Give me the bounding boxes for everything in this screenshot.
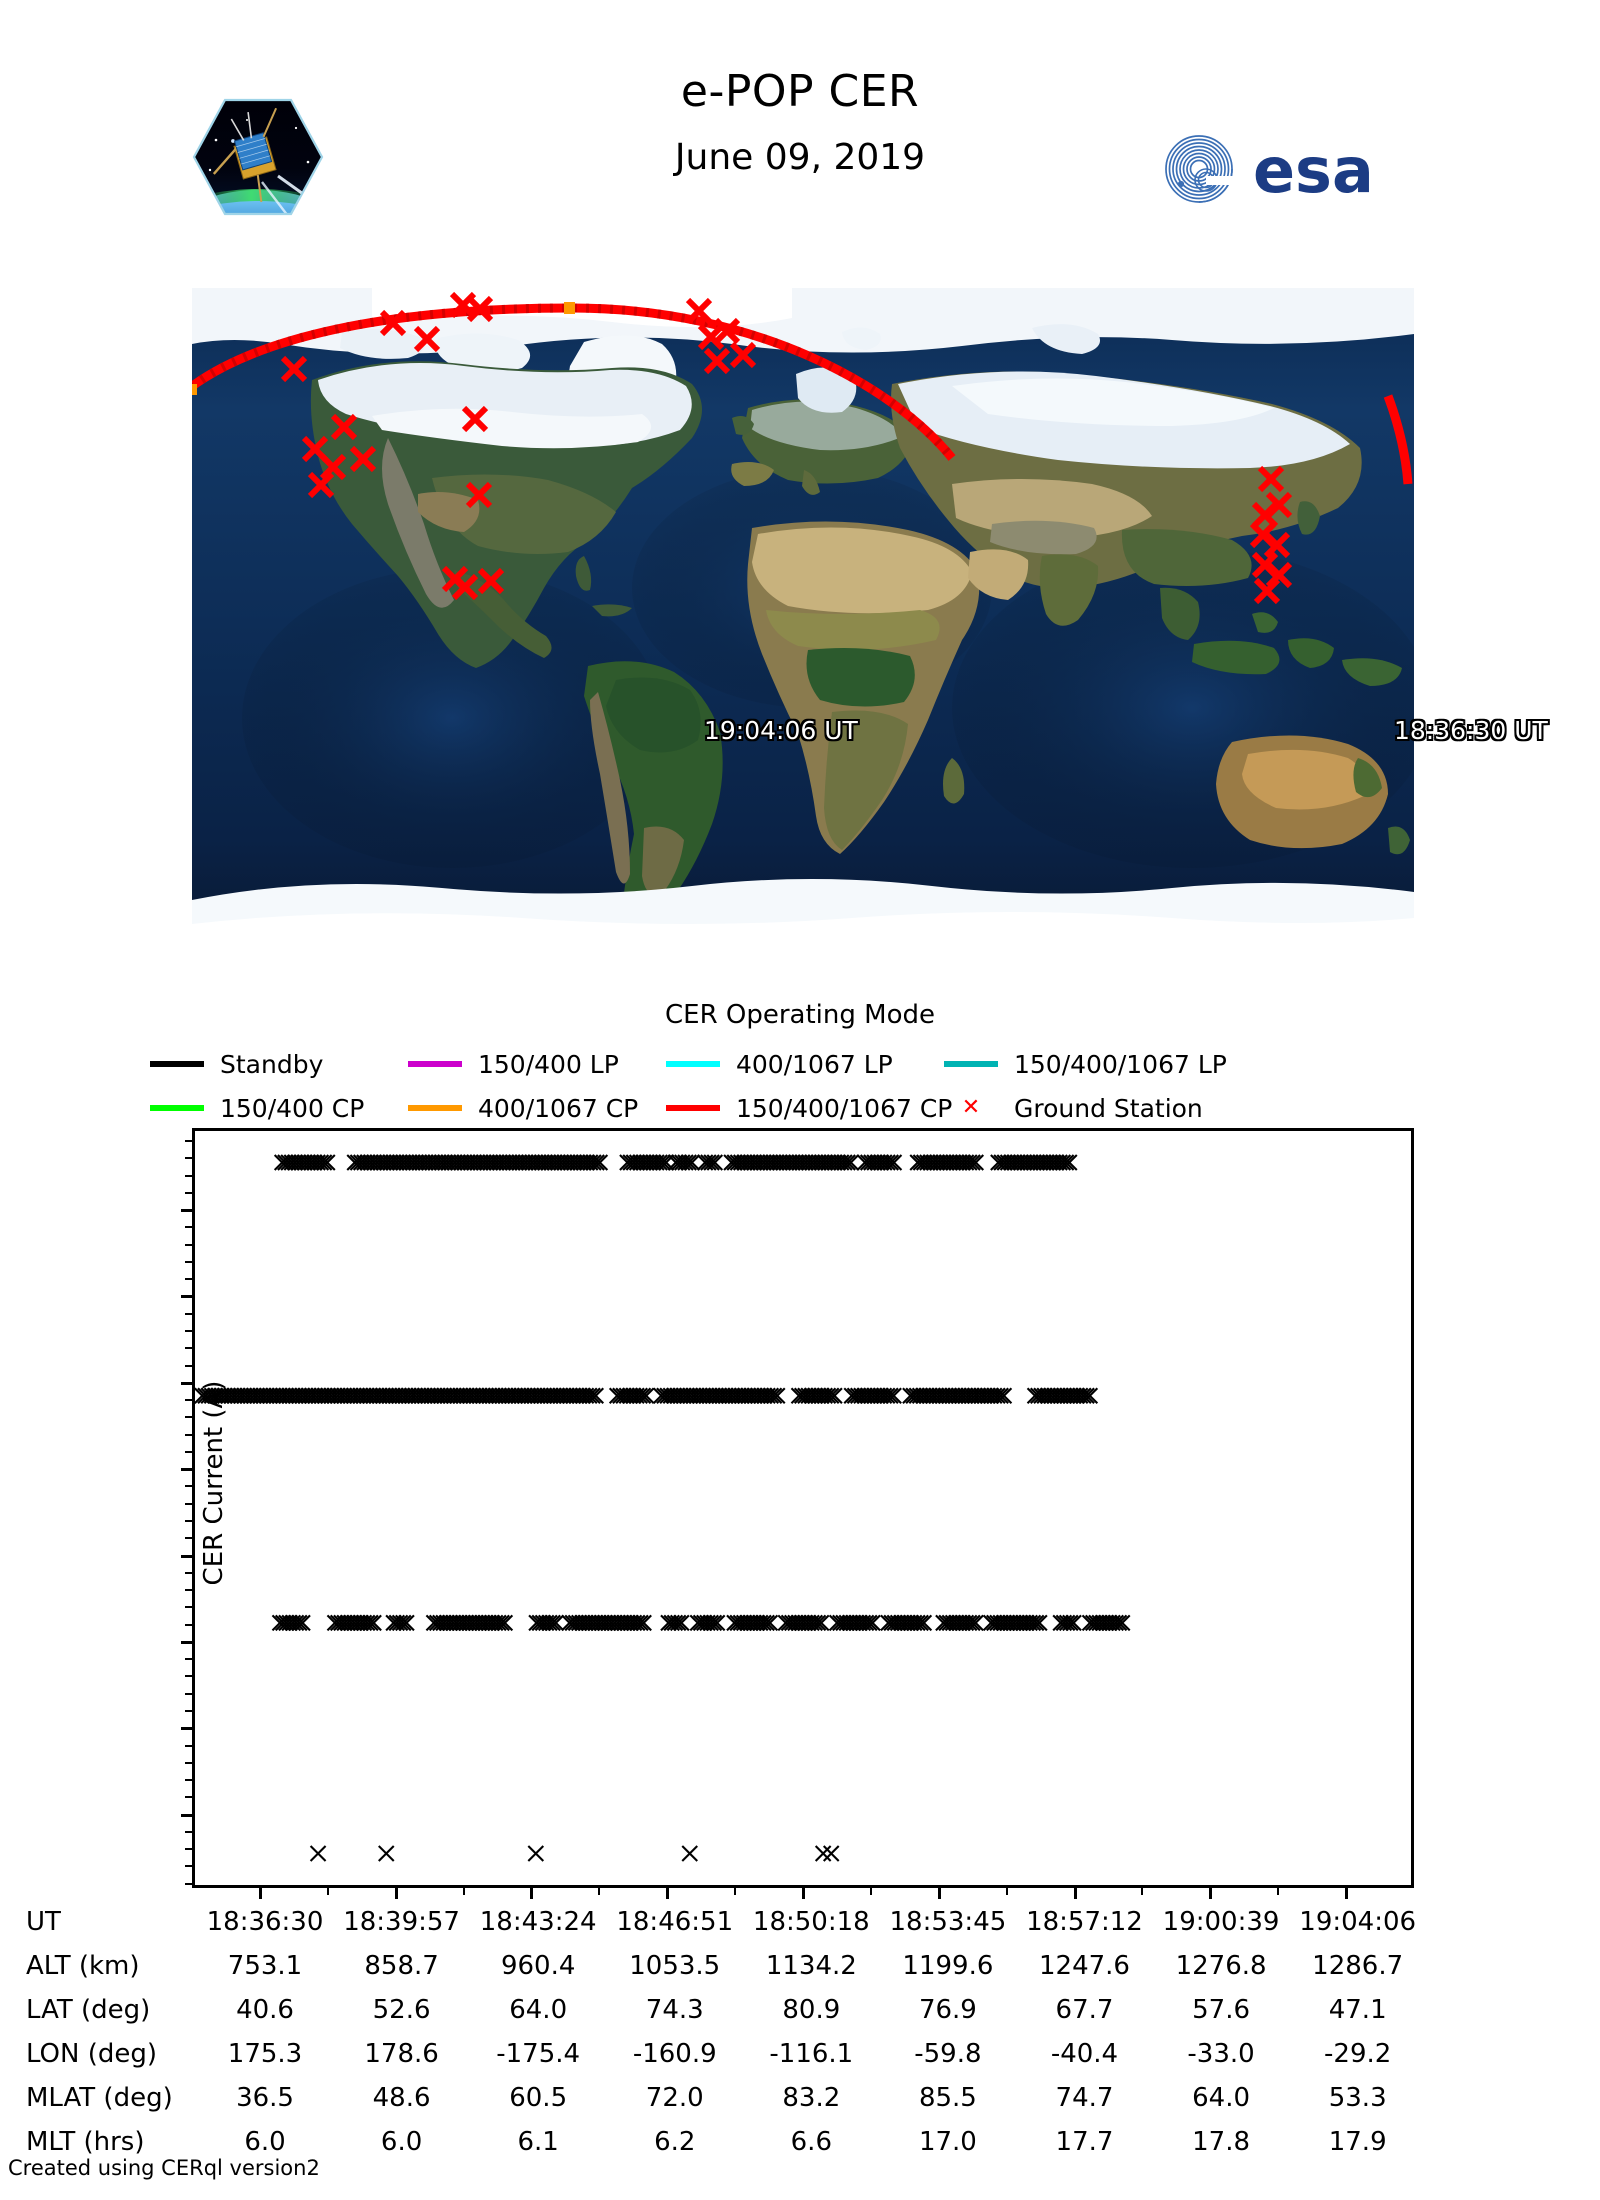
y-tick-minor (185, 1848, 192, 1850)
y-tick-minor (185, 1434, 192, 1436)
y-tick-minor (185, 1865, 192, 1867)
table-row-label: MLAT (deg) (26, 2076, 197, 2120)
table-cell: 17.7 (1016, 2120, 1153, 2164)
legend-swatch-150-400-cp (150, 1105, 204, 1111)
legend-row-1: Standby 150/400 LP 400/1067 LP 150/400/1… (150, 1042, 1450, 1086)
x-tick (938, 1888, 941, 1899)
y-tick-minor (185, 1796, 192, 1798)
plot-markers (192, 1128, 1414, 1888)
table-cell: 19:00:39 (1153, 1900, 1290, 1944)
y-tick-minor (185, 1244, 192, 1246)
table-cell: 53.3 (1289, 2076, 1426, 2120)
table-cell: 57.6 (1153, 1988, 1290, 2032)
table-cell: 40.6 (197, 1988, 334, 2032)
legend: Standby 150/400 LP 400/1067 LP 150/400/1… (150, 1042, 1450, 1130)
y-tick-minor (185, 1485, 192, 1487)
table-cell: 1199.6 (880, 1944, 1017, 1988)
y-tick-minor (185, 1520, 192, 1522)
esa-logo-icon: esa (1158, 128, 1448, 210)
table-cell: 52.6 (333, 1988, 470, 2032)
table-cell: -40.4 (1016, 2032, 1153, 2076)
x-tick-minor (327, 1888, 329, 1895)
table-cell: 858.7 (333, 1944, 470, 1988)
table-cell: 18:57:12 (1016, 1900, 1153, 1944)
y-tick-minor (185, 1883, 192, 1885)
table-cell: 83.2 (743, 2076, 880, 2120)
table-cell: 67.7 (1016, 1988, 1153, 2032)
cassiope-mission-patch-icon (192, 98, 324, 216)
table-row-label: ALT (km) (26, 1944, 197, 1988)
table-cell: 74.7 (1016, 2076, 1153, 2120)
ephemeris-table-element: UT18:36:3018:39:5718:43:2418:46:5118:50:… (26, 1900, 1426, 2164)
table-cell: 76.9 (880, 1988, 1017, 2032)
table-cell: 48.6 (333, 2076, 470, 2120)
y-tick-minor (185, 1451, 192, 1453)
table-cell: -175.4 (470, 2032, 607, 2076)
table-cell: 74.3 (606, 1988, 743, 2032)
page-date: June 09, 2019 (400, 140, 1200, 176)
y-tick (181, 1555, 192, 1558)
x-tick-minor (1277, 1888, 1279, 1895)
table-cell: 6.1 (470, 2120, 607, 2164)
y-tick-minor (185, 1606, 192, 1608)
y-tick (181, 1295, 192, 1298)
title-block: e-POP CER June 09, 2019 (400, 70, 1200, 176)
y-tick (181, 1727, 192, 1730)
legend-item-150-400-1067-lp[interactable]: 150/400/1067 LP (944, 1050, 1227, 1079)
table-row-label: LON (deg) (26, 2032, 197, 2076)
x-tick (802, 1888, 805, 1899)
legend-item-standby[interactable]: Standby (150, 1050, 408, 1079)
y-tick-minor (185, 1278, 192, 1280)
legend-label-150-400-lp: 150/400 LP (478, 1050, 619, 1079)
y-tick-minor (185, 1226, 192, 1228)
table-row: UT18:36:3018:39:5718:43:2418:46:5118:50:… (26, 1900, 1426, 1944)
y-tick-minor (185, 1399, 192, 1401)
table-cell: 72.0 (606, 2076, 743, 2120)
y-tick-minor (185, 1416, 192, 1418)
y-tick-minor (185, 1157, 192, 1159)
table-cell: -59.8 (880, 2032, 1017, 2076)
table-cell: 18:39:57 (333, 1900, 470, 1944)
legend-item-150-400-1067-cp[interactable]: 150/400/1067 CP (666, 1094, 944, 1123)
page-header: e-POP CER June 09, 2019 (0, 0, 1600, 210)
table-cell: 175.3 (197, 2032, 334, 2076)
table-row: ALT (km)753.1858.7960.41053.51134.21199.… (26, 1944, 1426, 1988)
legend-row-2: 150/400 CP 400/1067 CP 150/400/1067 CP ✕… (150, 1086, 1450, 1130)
table-cell: 64.0 (1153, 2076, 1290, 2120)
x-tick (1074, 1888, 1077, 1899)
table-cell: -116.1 (743, 2032, 880, 2076)
legend-item-ground-station[interactable]: ✕ Ground Station (944, 1094, 1203, 1123)
ephemeris-table: UT18:36:3018:39:5718:43:2418:46:5118:50:… (26, 1900, 1586, 2164)
table-cell: 6.0 (333, 2120, 470, 2164)
table-cell: 64.0 (470, 1988, 607, 2032)
y-tick-minor (185, 1589, 192, 1591)
x-tick-minor (463, 1888, 465, 1895)
table-cell: 80.9 (743, 1988, 880, 2032)
map-time-label-end: 19:04:06 UT (704, 716, 858, 745)
table-cell: 17.8 (1153, 2120, 1290, 2164)
x-tick (395, 1888, 398, 1899)
legend-label-400-1067-lp: 400/1067 LP (736, 1050, 893, 1079)
page-title: e-POP CER (400, 70, 1200, 114)
table-cell: 47.1 (1289, 1988, 1426, 2032)
table-cell: 1134.2 (743, 1944, 880, 1988)
cer-current-plot: CER Current (A) 0.480.490.500.510.520.53… (192, 1128, 1414, 1888)
legend-label-400-1067-cp: 400/1067 CP (478, 1094, 638, 1123)
table-cell: 36.5 (197, 2076, 334, 2120)
table-row: MLAT (deg)36.548.660.572.083.285.574.764… (26, 2076, 1426, 2120)
legend-swatch-150-400-lp (408, 1061, 462, 1067)
legend-label-150-400-cp: 150/400 CP (220, 1094, 364, 1123)
table-cell: -29.2 (1289, 2032, 1426, 2076)
table-cell: 17.0 (880, 2120, 1017, 2164)
legend-swatch-400-1067-lp (666, 1061, 720, 1067)
y-tick (181, 1209, 192, 1212)
y-tick-minor (185, 1675, 192, 1677)
y-tick (181, 1641, 192, 1644)
x-tick (1209, 1888, 1212, 1899)
y-tick-minor (185, 1192, 192, 1194)
legend-swatch-standby (150, 1061, 204, 1067)
legend-item-400-1067-lp[interactable]: 400/1067 LP (666, 1050, 944, 1079)
y-tick-minor (185, 1503, 192, 1505)
table-cell: 18:50:18 (743, 1900, 880, 1944)
y-tick-minor (185, 1537, 192, 1539)
world-map-image (192, 288, 1414, 960)
x-tick-minor (1006, 1888, 1008, 1895)
table-cell: 17.9 (1289, 2120, 1426, 2164)
x-tick-minor (598, 1888, 600, 1895)
map-time-label-start: 18:36:30 UT (1394, 716, 1548, 745)
footer-credit: Created using CERql version2 (8, 2156, 320, 2180)
table-cell: 960.4 (470, 1944, 607, 1988)
legend-swatch-400-1067-cp (408, 1105, 462, 1111)
y-tick-minor (185, 1313, 192, 1315)
y-tick-minor (185, 1572, 192, 1574)
table-cell: 1276.8 (1153, 1944, 1290, 1988)
legend-item-150-400-cp[interactable]: 150/400 CP (150, 1094, 408, 1123)
table-cell: 18:53:45 (880, 1900, 1017, 1944)
table-cell: -33.0 (1153, 2032, 1290, 2076)
table-cell: 18:43:24 (470, 1900, 607, 1944)
esa-wordmark: esa (1253, 134, 1374, 207)
table-cell: 1286.7 (1289, 1944, 1426, 1988)
table-cell: 85.5 (880, 2076, 1017, 2120)
table-cell: 1053.5 (606, 1944, 743, 1988)
table-cell: 6.6 (743, 2120, 880, 2164)
legend-label-ground-station: Ground Station (1014, 1094, 1203, 1123)
table-row-label: LAT (deg) (26, 1988, 197, 2032)
table-row-label: UT (26, 1900, 197, 1944)
y-tick-minor (185, 1347, 192, 1349)
x-tick (666, 1888, 669, 1899)
y-tick-minor (185, 1745, 192, 1747)
y-tick-minor (185, 1658, 192, 1660)
legend-item-150-400-lp[interactable]: 150/400 LP (408, 1050, 666, 1079)
ground-station-marker-icon: ✕ (944, 1097, 998, 1119)
y-tick-minor (185, 1140, 192, 1142)
table-cell: 60.5 (470, 2076, 607, 2120)
table-row: LAT (deg)40.652.664.074.380.976.967.757.… (26, 1988, 1426, 2032)
legend-item-400-1067-cp[interactable]: 400/1067 CP (408, 1094, 666, 1123)
legend-title: CER Operating Mode (0, 1000, 1600, 1030)
y-tick-minor (185, 1762, 192, 1764)
legend-swatch-150-400-1067-lp (944, 1061, 998, 1067)
y-tick-minor (185, 1261, 192, 1263)
table-row: LON (deg)175.3178.6-175.4-160.9-116.1-59… (26, 2032, 1426, 2076)
y-tick-minor (185, 1710, 192, 1712)
y-tick-minor (185, 1175, 192, 1177)
y-tick-minor (185, 1693, 192, 1695)
table-cell: 19:04:06 (1289, 1900, 1426, 1944)
y-tick-minor (185, 1330, 192, 1332)
legend-swatch-150-400-1067-cp (666, 1105, 720, 1111)
table-cell: 178.6 (333, 2032, 470, 2076)
y-tick-minor (185, 1779, 192, 1781)
table-cell: 6.2 (606, 2120, 743, 2164)
y-tick-minor (185, 1624, 192, 1626)
x-tick-minor (734, 1888, 736, 1895)
table-cell: 1247.6 (1016, 1944, 1153, 1988)
legend-label-standby: Standby (220, 1050, 323, 1079)
x-tick-minor (1141, 1888, 1143, 1895)
x-tick (1345, 1888, 1348, 1899)
y-tick (181, 1468, 192, 1471)
x-tick (259, 1888, 262, 1899)
y-tick-minor (185, 1831, 192, 1833)
y-tick (181, 1382, 192, 1385)
table-cell: -160.9 (606, 2032, 743, 2076)
x-tick (530, 1888, 533, 1899)
table-cell: 18:46:51 (606, 1900, 743, 1944)
ground-track-map: 19:04:06 UT 18:36:30 UT (192, 288, 1414, 960)
y-tick-minor (185, 1365, 192, 1367)
x-tick-minor (870, 1888, 872, 1895)
legend-label-150-400-1067-cp: 150/400/1067 CP (736, 1094, 952, 1123)
y-tick (181, 1814, 192, 1817)
legend-label-150-400-1067-lp: 150/400/1067 LP (1014, 1050, 1227, 1079)
table-cell: 18:36:30 (197, 1900, 334, 1944)
table-cell: 753.1 (197, 1944, 334, 1988)
